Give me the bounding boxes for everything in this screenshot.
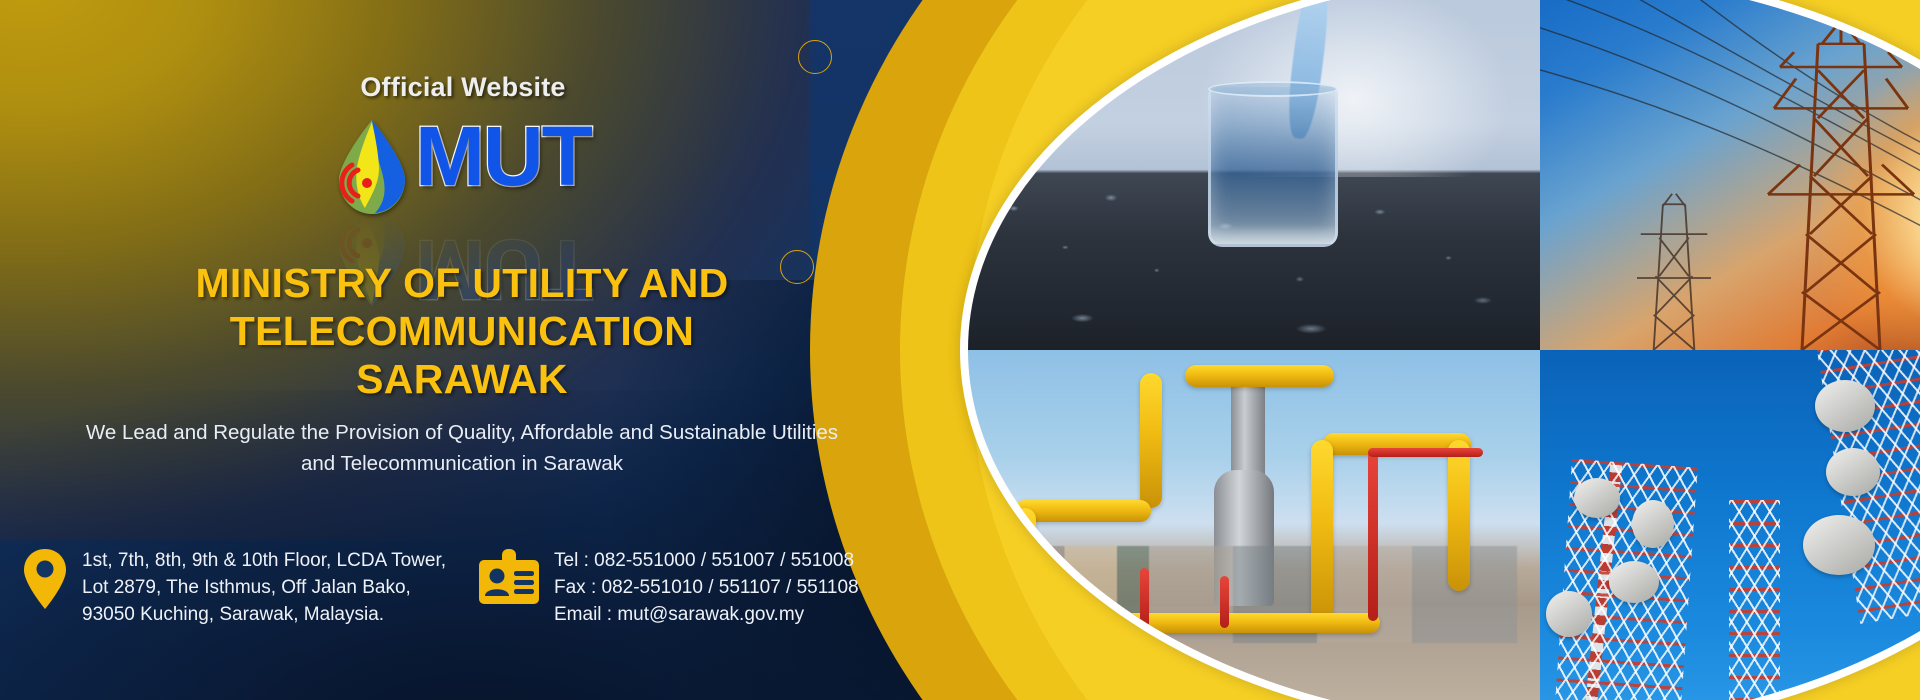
electricity-pylon: [1766, 19, 1916, 350]
gas-valve-pipe: [1220, 576, 1229, 629]
address-line-1: 1st, 7th, 8th, 9th & 10th Floor, LCDA To…: [82, 548, 446, 575]
address-lines: 1st, 7th, 8th, 9th & 10th Floor, LCDA To…: [82, 548, 446, 629]
ministry-banner: Official Website MUT: [0, 0, 1920, 700]
banner-content: Official Website MUT: [0, 0, 880, 700]
gas-pipe: [1014, 508, 1036, 606]
contact-strip: 1st, 7th, 8th, 9th & 10th Floor, LCDA To…: [22, 548, 859, 629]
brand-acronym: MUT: [415, 118, 591, 195]
microwave-dish-icon: [1632, 500, 1674, 548]
telecom-tower-center: [1729, 500, 1780, 700]
gas-pipe: [1448, 440, 1470, 590]
collage-quadrant-gas: [968, 350, 1540, 700]
microwave-dish-icon: [1574, 478, 1620, 518]
address-block: 1st, 7th, 8th, 9th & 10th Floor, LCDA To…: [22, 548, 442, 629]
collage-quadrant-water: [968, 0, 1540, 350]
tagline-line-2: and Telecommunication in Sarawak: [44, 449, 880, 480]
page-title: MINISTRY OF UTILITY AND TELECOMMUNICATIO…: [0, 260, 880, 404]
droplet-logo-icon: [335, 118, 409, 214]
address-line-3: 93050 Kuching, Sarawak, Malaysia.: [82, 602, 446, 629]
gas-pipe: [1094, 613, 1380, 633]
gas-pipe: [1185, 365, 1334, 387]
ministry-title-line-2: TELECOMMUNICATION: [44, 308, 880, 356]
gas-pipe: [1140, 373, 1162, 508]
brand-logo-lockup: MUT: [0, 118, 880, 214]
water-droplets: [968, 173, 1540, 350]
gas-pipe: [1311, 440, 1333, 620]
gas-valve-pipe: [1368, 448, 1378, 621]
email-line: Email : mut@sarawak.gov.my: [554, 602, 859, 629]
telephone-line: Tel : 082-551000 / 551007 / 551008: [554, 548, 859, 575]
official-website-label: Official Website: [0, 72, 880, 103]
microwave-dish-icon: [1826, 448, 1880, 496]
collage-quadrant-electricity: [1540, 0, 1920, 350]
ministry-title-line-1: MINISTRY OF UTILITY AND: [44, 260, 880, 308]
gas-valve-pipe: [1140, 568, 1149, 628]
contact-lines: Tel : 082-551000 / 551007 / 551008 Fax :…: [554, 548, 859, 629]
tagline-line-1: We Lead and Regulate the Provision of Qu…: [44, 418, 880, 449]
map-pin-icon: [22, 548, 68, 610]
water-droplet-icon: [335, 118, 409, 214]
gas-valve-pipe: [1368, 448, 1482, 457]
contact-details-block: Tel : 082-551000 / 551007 / 551008 Fax :…: [478, 548, 859, 629]
distant-pylon: [1637, 192, 1711, 350]
address-line-2: Lot 2879, The Isthmus, Off Jalan Bako,: [82, 575, 446, 602]
ministry-title-line-3: SARAWAK: [44, 356, 880, 404]
tagline: We Lead and Regulate the Provision of Qu…: [0, 418, 880, 480]
utility-photo-collage: [968, 0, 1920, 700]
collage-quadrant-telecom: [1540, 350, 1920, 700]
id-card-icon: [478, 548, 540, 610]
satellite-dish-icon: [1546, 591, 1592, 637]
microwave-dish-icon: [1609, 561, 1659, 603]
fax-line: Fax : 082-551010 / 551107 / 551108: [554, 575, 859, 602]
microwave-dish-icon: [1815, 380, 1875, 432]
